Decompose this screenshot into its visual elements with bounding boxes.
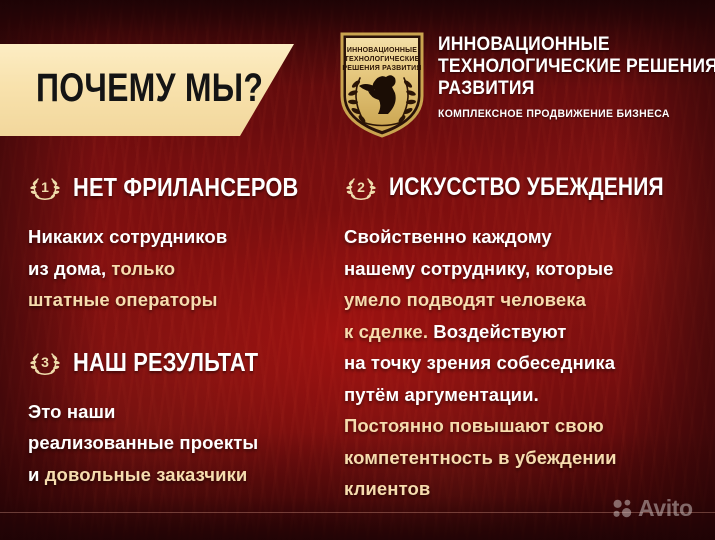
- brand-line-1: ИННОВАЦИОННЫЕ: [438, 33, 679, 55]
- feature-1-line-1: Никаких сотрудников: [28, 221, 328, 253]
- text-run: путём аргументации.: [344, 384, 539, 405]
- features-column-right: 2 ИСКУССТВО УБЕЖДЕНИЯ Свойственно каждом…: [344, 170, 694, 505]
- feature-block-3: 3 НАШ РЕЗУЛЬТАТ Это наши реализованные п…: [28, 345, 328, 491]
- text-run-highlight: клиентов: [344, 478, 430, 499]
- laurel-badge-3-icon: 3: [28, 348, 62, 376]
- text-run: и: [28, 464, 45, 485]
- text-run: Это наши: [28, 401, 115, 422]
- feature-2-line-7: Постоянно повышают свою: [344, 410, 694, 442]
- feature-3-line-1: Это наши: [28, 396, 328, 428]
- feature-3-body: Это наши реализованные проекты и довольн…: [28, 396, 328, 491]
- svg-text:ИННОВАЦИОННЫЕ: ИННОВАЦИОННЫЕ: [347, 47, 417, 54]
- text-run-highlight: Постоянно повышают свою: [344, 415, 604, 436]
- text-run-highlight: довольные заказчики: [45, 464, 248, 485]
- text-run: реализованные проекты: [28, 432, 258, 453]
- laurel-badge-2-icon: 2: [344, 173, 378, 201]
- feature-2-line-1: Свойственно каждому: [344, 221, 694, 253]
- text-run: нашему сотруднику, которые: [344, 258, 614, 279]
- badge-number-2: 2: [357, 179, 365, 195]
- feature-2-body: Свойственно каждому нашему сотруднику, к…: [344, 221, 694, 505]
- feature-1-heading: 1 НЕТ ФРИЛАНСЕРОВ: [28, 170, 328, 204]
- promo-poster: ПОЧЕМУ МЫ? ИННОВАЦИОННЫЕ ТЕХНОЛОГИЧЕСКИЕ…: [0, 0, 715, 540]
- header: ПОЧЕМУ МЫ? ИННОВАЦИОННЫЕ ТЕХНОЛОГИЧЕСКИЕ…: [0, 0, 715, 150]
- feature-2-line-8: компетентность в убеждении: [344, 442, 694, 474]
- feature-2-line-3: умело подводят человека: [344, 284, 694, 316]
- badge-number-3: 3: [41, 354, 49, 370]
- feature-3-title: НАШ РЕЗУЛЬТАТ: [73, 348, 258, 376]
- features-column-left: 1 НЕТ ФРИЛАНСЕРОВ Никаких сотрудников из…: [28, 170, 328, 490]
- feature-3-heading: 3 НАШ РЕЗУЛЬТАТ: [28, 345, 328, 379]
- text-run: из дома,: [28, 258, 111, 279]
- feature-2-line-4: к сделке. Воздействуют: [344, 316, 694, 348]
- brand-line-3: РАЗВИТИЯ: [438, 77, 679, 99]
- text-run: на точку зрения собеседника: [344, 352, 615, 373]
- feature-1-line-2: из дома, только: [28, 253, 328, 285]
- company-logo-shield-icon: ИННОВАЦИОННЫЕ ТЕХНОЛОГИЧЕСКИЕ РЕШЕНИЯ РА…: [338, 30, 426, 140]
- feature-1-line-3: штатные операторы: [28, 284, 328, 316]
- brand-line-2: ТЕХНОЛОГИЧЕСКИЕ РЕШЕНИЯ: [438, 55, 679, 77]
- text-run: Никаких сотрудников: [28, 226, 227, 247]
- text-run-highlight: только: [111, 258, 175, 279]
- laurel-badge-1-icon: 1: [28, 173, 62, 201]
- feature-1-title: НЕТ ФРИЛАНСЕРОВ: [73, 173, 298, 201]
- svg-text:РЕШЕНИЯ РАЗВИТИЯ: РЕШЕНИЯ РАЗВИТИЯ: [342, 65, 421, 72]
- text-run-highlight: умело подводят человека: [344, 289, 586, 310]
- text-run-highlight: компетентность в убеждении: [344, 447, 617, 468]
- feature-3-line-2: реализованные проекты: [28, 427, 328, 459]
- brand-name: ИННОВАЦИОННЫЕ ТЕХНОЛОГИЧЕСКИЕ РЕШЕНИЯ РА…: [438, 33, 706, 121]
- avito-logo-icon: [612, 498, 633, 519]
- badge-number-1: 1: [41, 179, 49, 195]
- feature-2-line-6: путём аргументации.: [344, 379, 694, 411]
- avito-watermark-label: Avito: [638, 497, 693, 520]
- page-title: ПОЧЕМУ МЫ?: [36, 60, 263, 116]
- bottom-divider: [0, 512, 715, 513]
- text-run: Воздействуют: [428, 321, 566, 342]
- feature-2-line-5: на точку зрения собеседника: [344, 347, 694, 379]
- text-run-highlight: штатные операторы: [28, 289, 218, 310]
- text-run: Свойственно каждому: [344, 226, 552, 247]
- svg-text:ТЕХНОЛОГИЧЕСКИЕ: ТЕХНОЛОГИЧЕСКИЕ: [345, 56, 420, 63]
- feature-2-heading: 2 ИСКУССТВО УБЕЖДЕНИЯ: [344, 170, 694, 204]
- feature-1-body: Никаких сотрудников из дома, только штат…: [28, 221, 328, 316]
- brand-tagline: КОМПЛЕКСНОЕ ПРОДВИЖЕНИЕ БИЗНЕСА: [438, 108, 693, 121]
- avito-watermark: Avito: [612, 497, 693, 520]
- text-run-highlight: к сделке.: [344, 321, 428, 342]
- feature-block-1: 1 НЕТ ФРИЛАНСЕРОВ Никаких сотрудников из…: [28, 170, 328, 316]
- feature-2-title: ИСКУССТВО УБЕЖДЕНИЯ: [389, 173, 664, 201]
- feature-3-line-3: и довольные заказчики: [28, 459, 328, 491]
- feature-2-line-2: нашему сотруднику, которые: [344, 253, 694, 285]
- feature-block-2: 2 ИСКУССТВО УБЕЖДЕНИЯ Свойственно каждом…: [344, 170, 694, 505]
- column-spacer: [28, 316, 328, 345]
